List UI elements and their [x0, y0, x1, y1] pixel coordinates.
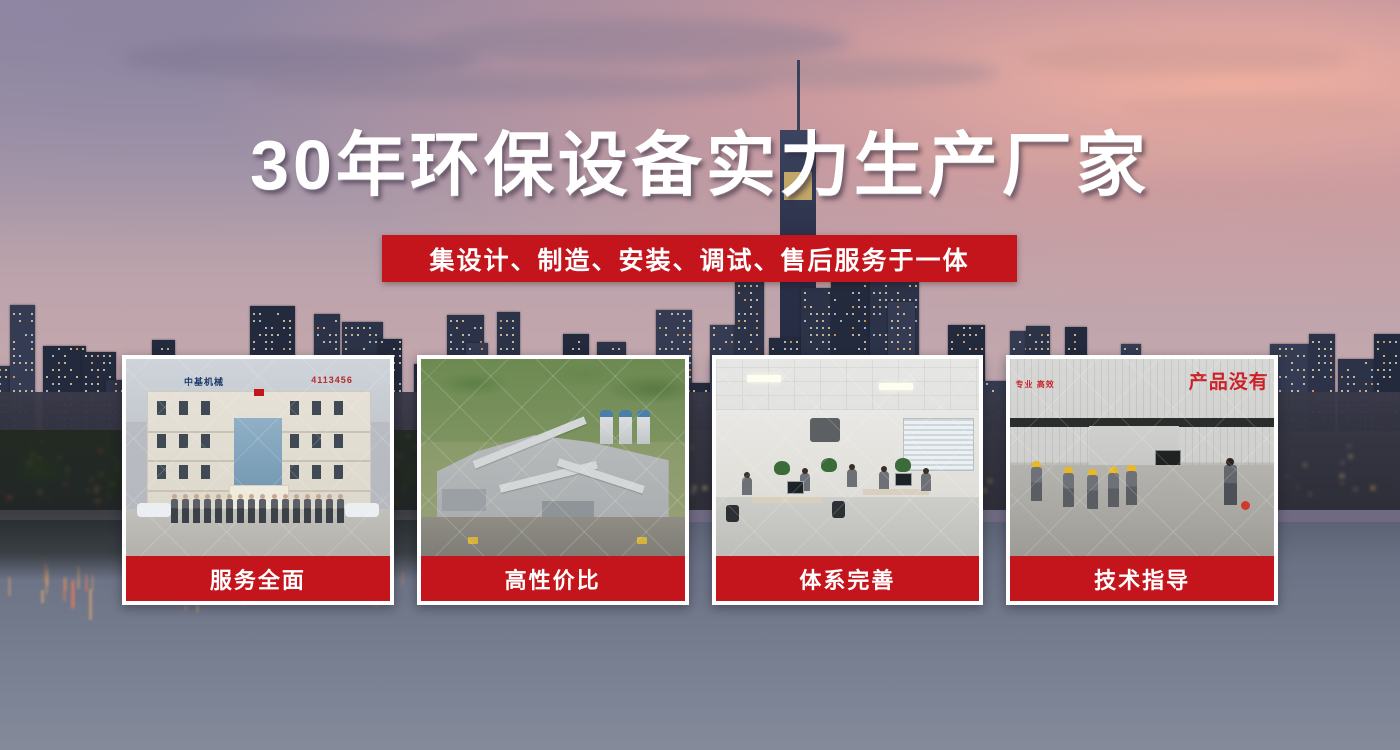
window-light [64, 376, 66, 378]
window-light [738, 292, 740, 294]
window-light [822, 313, 824, 315]
window-light [915, 285, 917, 287]
window-light [19, 320, 21, 322]
window-light [369, 334, 371, 336]
window-light [91, 369, 93, 371]
window-light [1377, 383, 1379, 385]
window-light [46, 376, 48, 378]
window-light [97, 376, 99, 378]
desk [752, 497, 822, 503]
window-light [816, 348, 818, 350]
window-light [271, 341, 273, 343]
street-light [1354, 488, 1357, 491]
window-light [1318, 369, 1320, 371]
window-light [1371, 369, 1373, 371]
window-light [846, 313, 848, 315]
window-light [1371, 383, 1373, 385]
window-light [1318, 348, 1320, 350]
building-window [334, 401, 343, 415]
window-light [109, 355, 111, 357]
window-light [1047, 334, 1049, 336]
street-light [1297, 486, 1299, 488]
window-light [265, 341, 267, 343]
window-light [0, 376, 1, 378]
window-light [828, 327, 830, 329]
window-light [834, 313, 836, 315]
window-light [1353, 376, 1355, 378]
window-light [277, 334, 279, 336]
window-light [756, 334, 758, 336]
staff-member [271, 499, 278, 523]
window-light [828, 341, 830, 343]
feature-card[interactable]: 产品没有 专业 高效 技术指导 [1006, 355, 1278, 605]
window-light [289, 341, 291, 343]
window-light [858, 306, 860, 308]
window-light [738, 327, 740, 329]
window-light [462, 320, 464, 322]
window-light [1035, 348, 1037, 350]
window-light [381, 341, 383, 343]
staff-member [259, 499, 266, 523]
window-light [897, 313, 899, 315]
window-light [76, 376, 78, 378]
window-light [19, 362, 21, 364]
window-light [731, 334, 733, 336]
window-light [1303, 355, 1305, 357]
street-light [1340, 474, 1344, 478]
window-light [975, 334, 977, 336]
window-light [259, 320, 261, 322]
window-light [816, 327, 818, 329]
window-light [885, 292, 887, 294]
window-light [1341, 376, 1343, 378]
window-light [512, 327, 514, 329]
window-light [271, 327, 273, 329]
window-light [450, 334, 452, 336]
window-light [369, 341, 371, 343]
window-light [677, 313, 679, 315]
window-light [450, 320, 452, 322]
window-light [70, 369, 72, 371]
window-light [828, 292, 830, 294]
window-light [253, 348, 255, 350]
office-floor [716, 497, 980, 556]
potted-plant [774, 461, 790, 475]
window-light [323, 341, 325, 343]
window-light [97, 383, 99, 385]
window-light [1047, 341, 1049, 343]
window-light [665, 334, 667, 336]
employee [921, 473, 931, 491]
window-light [897, 292, 899, 294]
window-light [31, 362, 33, 364]
staff-member [304, 499, 311, 523]
window-light [253, 341, 255, 343]
window-light [351, 334, 353, 336]
window-light [1389, 341, 1391, 343]
window-light [64, 355, 66, 357]
window-light [744, 320, 746, 322]
window-light [1074, 341, 1076, 343]
window-light [500, 327, 502, 329]
window-light [462, 341, 464, 343]
water-reflection [89, 589, 92, 620]
window-light [103, 362, 105, 364]
window-light [1074, 334, 1076, 336]
window-light [756, 313, 758, 315]
building-window [201, 465, 210, 479]
staff-member [237, 499, 244, 523]
window-light [1035, 341, 1037, 343]
window-light [85, 376, 87, 378]
window-light [271, 348, 273, 350]
window-light [750, 313, 752, 315]
cloud [250, 72, 770, 100]
window-light [375, 334, 377, 336]
window-light [91, 383, 93, 385]
window-light [1013, 348, 1015, 350]
window-light [1041, 348, 1043, 350]
street-light [1303, 463, 1307, 467]
window-light [103, 355, 105, 357]
staff-member [293, 499, 300, 523]
window-light [369, 327, 371, 329]
window-light [915, 306, 917, 308]
window-light [969, 348, 971, 350]
window-light [500, 348, 502, 350]
window-light [1377, 341, 1379, 343]
card-caption: 体系完善 [716, 556, 980, 601]
window-light [283, 327, 285, 329]
window-light [13, 355, 15, 357]
window-light [572, 348, 574, 350]
window-light [750, 341, 752, 343]
building-phone-text: 4113456 [311, 375, 353, 385]
subtitle-text: 集设计、制造、安装、调试、售后服务于一体 [429, 241, 969, 277]
worker [1063, 473, 1074, 507]
window-light [671, 348, 673, 350]
building-logo-text: 中基机械 [184, 375, 224, 388]
cloud [1120, 95, 1400, 125]
window-light [810, 334, 812, 336]
window-light [52, 355, 54, 357]
window-light [399, 348, 401, 350]
window-light [271, 334, 273, 336]
window-light [480, 327, 482, 329]
window-light [58, 362, 60, 364]
staff-member [326, 499, 333, 523]
staff-member [282, 499, 289, 523]
window-light [1285, 355, 1287, 357]
silo [600, 410, 613, 444]
window-light [796, 348, 798, 350]
window-light [25, 334, 27, 336]
building-window [179, 434, 188, 448]
window-light [873, 313, 875, 315]
window-light [283, 348, 285, 350]
window-light [1330, 348, 1332, 350]
card-photo-aerial-plant [421, 359, 685, 556]
window-light [915, 320, 917, 322]
window-light [756, 348, 758, 350]
window-light [25, 369, 27, 371]
window-light [1330, 341, 1332, 343]
staff-member [248, 499, 255, 523]
window-light [963, 334, 965, 336]
window-light [804, 292, 806, 294]
window-light [1279, 348, 1281, 350]
window-light [689, 320, 691, 322]
window-light [329, 334, 331, 336]
window-light [91, 362, 93, 364]
monitor [787, 481, 804, 494]
window-light [289, 348, 291, 350]
window-light [816, 313, 818, 315]
window-light [683, 341, 685, 343]
staff-member [315, 499, 322, 523]
window-light [683, 320, 685, 322]
window-light [103, 369, 105, 371]
window-light [1330, 355, 1332, 357]
window-light [738, 348, 740, 350]
window-light [725, 327, 727, 329]
window-light [852, 313, 854, 315]
window-light [756, 299, 758, 301]
staff-member [182, 499, 189, 523]
window-light [852, 327, 854, 329]
window-light [1377, 369, 1379, 371]
window-light [335, 348, 337, 350]
window-light [689, 334, 691, 336]
window-light [456, 348, 458, 350]
window-light [317, 327, 319, 329]
window-light [109, 376, 111, 378]
feature-card[interactable]: 高性价比 [417, 355, 689, 605]
window-light [13, 313, 15, 315]
window-light [885, 299, 887, 301]
ceiling [716, 359, 980, 410]
window-light [885, 341, 887, 343]
window-light [683, 313, 685, 315]
window-light [828, 348, 830, 350]
window-light [1324, 348, 1326, 350]
window-light [1383, 355, 1385, 357]
card-caption: 高性价比 [421, 556, 685, 601]
window-light [1074, 348, 1076, 350]
window-light [345, 334, 347, 336]
window-light [1383, 369, 1385, 371]
window-light [1365, 383, 1367, 385]
window-light [677, 334, 679, 336]
building-window [312, 465, 321, 479]
street-light [1309, 493, 1311, 495]
ceiling-light [747, 375, 781, 382]
tower-spire [797, 60, 800, 130]
window-light [31, 348, 33, 350]
card-caption: 服务全面 [126, 556, 390, 601]
flag-icon [254, 389, 264, 396]
window-light [909, 334, 911, 336]
window-light [5, 376, 7, 378]
window-light [1047, 348, 1049, 350]
window-light [897, 327, 899, 329]
window-light [873, 306, 875, 308]
window-light [283, 320, 285, 322]
employee [742, 477, 752, 495]
window-light [456, 320, 458, 322]
water-reflection [63, 578, 66, 601]
window-light [462, 334, 464, 336]
feature-card-list: 中基机械 4113456 服务全面 [122, 355, 1278, 605]
window-light [13, 348, 15, 350]
window-light [1318, 341, 1320, 343]
window-light [885, 334, 887, 336]
window-light [822, 320, 824, 322]
building-window [157, 401, 166, 415]
staff-member [226, 499, 233, 523]
window-light [1347, 376, 1349, 378]
window-light [804, 320, 806, 322]
desk [863, 489, 929, 495]
window-light [951, 341, 953, 343]
window-light [345, 341, 347, 343]
promo-banner: 30年环保设备实力生产厂家 集设计、制造、安装、调试、售后服务于一体 中基机械 … [0, 0, 1400, 750]
feature-card[interactable]: 体系完善 [712, 355, 984, 605]
window-light [903, 313, 905, 315]
window-light [1371, 376, 1373, 378]
window-light [82, 348, 84, 350]
window-light [0, 369, 1, 371]
wall-decal [810, 418, 840, 442]
window-light [909, 327, 911, 329]
window-light [822, 334, 824, 336]
window-light [1365, 362, 1367, 364]
window-light [1029, 348, 1031, 350]
window-light [58, 376, 60, 378]
window-light [804, 299, 806, 301]
window-light [265, 334, 267, 336]
staff-member [171, 499, 178, 523]
excavator [637, 537, 647, 544]
window-light [858, 320, 860, 322]
window-light [393, 348, 395, 350]
window-light [963, 327, 965, 329]
window-light [13, 362, 15, 364]
ceiling-light [879, 383, 913, 390]
window-light [167, 348, 169, 350]
window-light [671, 341, 673, 343]
window-light [1279, 355, 1281, 357]
window-light [357, 334, 359, 336]
window-light [1285, 376, 1287, 378]
window-light [790, 341, 792, 343]
window-light [981, 348, 983, 350]
window-light [1285, 348, 1287, 350]
window-light [500, 334, 502, 336]
window-light [345, 327, 347, 329]
window-light [864, 313, 866, 315]
window-light [31, 341, 33, 343]
window-light [109, 362, 111, 364]
building-window [157, 434, 166, 448]
window-light [828, 313, 830, 315]
window-light [474, 327, 476, 329]
window-light [1303, 376, 1305, 378]
window-light [506, 334, 508, 336]
window-light [1353, 383, 1355, 385]
feature-card[interactable]: 中基机械 4113456 服务全面 [122, 355, 394, 605]
building-window [312, 434, 321, 448]
window-light [671, 313, 673, 315]
window-light [289, 334, 291, 336]
window-light [1291, 369, 1293, 371]
window-light [713, 348, 715, 350]
warehouse-shed [442, 489, 486, 511]
window-light [456, 327, 458, 329]
window-light [1324, 376, 1326, 378]
window-light [31, 320, 33, 322]
window-light [1303, 383, 1305, 385]
window-light [713, 334, 715, 336]
window-light [259, 334, 261, 336]
window-light [1324, 355, 1326, 357]
window-light [97, 369, 99, 371]
window-light [750, 299, 752, 301]
window-light [683, 334, 685, 336]
building-window [179, 465, 188, 479]
window-light [1389, 376, 1391, 378]
window-light [70, 383, 72, 385]
window-light [450, 341, 452, 343]
window-light [1330, 376, 1332, 378]
window-light [864, 327, 866, 329]
window-light [891, 320, 893, 322]
window-light [873, 334, 875, 336]
window-light [1297, 355, 1299, 357]
window-light [744, 299, 746, 301]
card-photo-office-interior [716, 359, 980, 556]
window-light [31, 313, 33, 315]
window-light [981, 327, 983, 329]
street-light [1341, 482, 1343, 484]
window-light [1041, 334, 1043, 336]
window-light [689, 341, 691, 343]
window-light [19, 383, 21, 385]
window-light [822, 341, 824, 343]
window-light [744, 327, 746, 329]
window-light [1318, 355, 1320, 357]
window-light [512, 341, 514, 343]
window-light [91, 355, 93, 357]
window-light [58, 383, 60, 385]
window-light [951, 348, 953, 350]
window-light [750, 334, 752, 336]
window-light [738, 285, 740, 287]
window-light [864, 285, 866, 287]
window-light [891, 341, 893, 343]
window-light [744, 348, 746, 350]
window-light [1029, 334, 1031, 336]
window-light [903, 327, 905, 329]
window-light [834, 348, 836, 350]
window-light [335, 334, 337, 336]
window-light [879, 334, 881, 336]
window-light [897, 334, 899, 336]
window-light [1377, 348, 1379, 350]
window-light [1312, 369, 1314, 371]
window-light [659, 313, 661, 315]
window-light [885, 285, 887, 287]
